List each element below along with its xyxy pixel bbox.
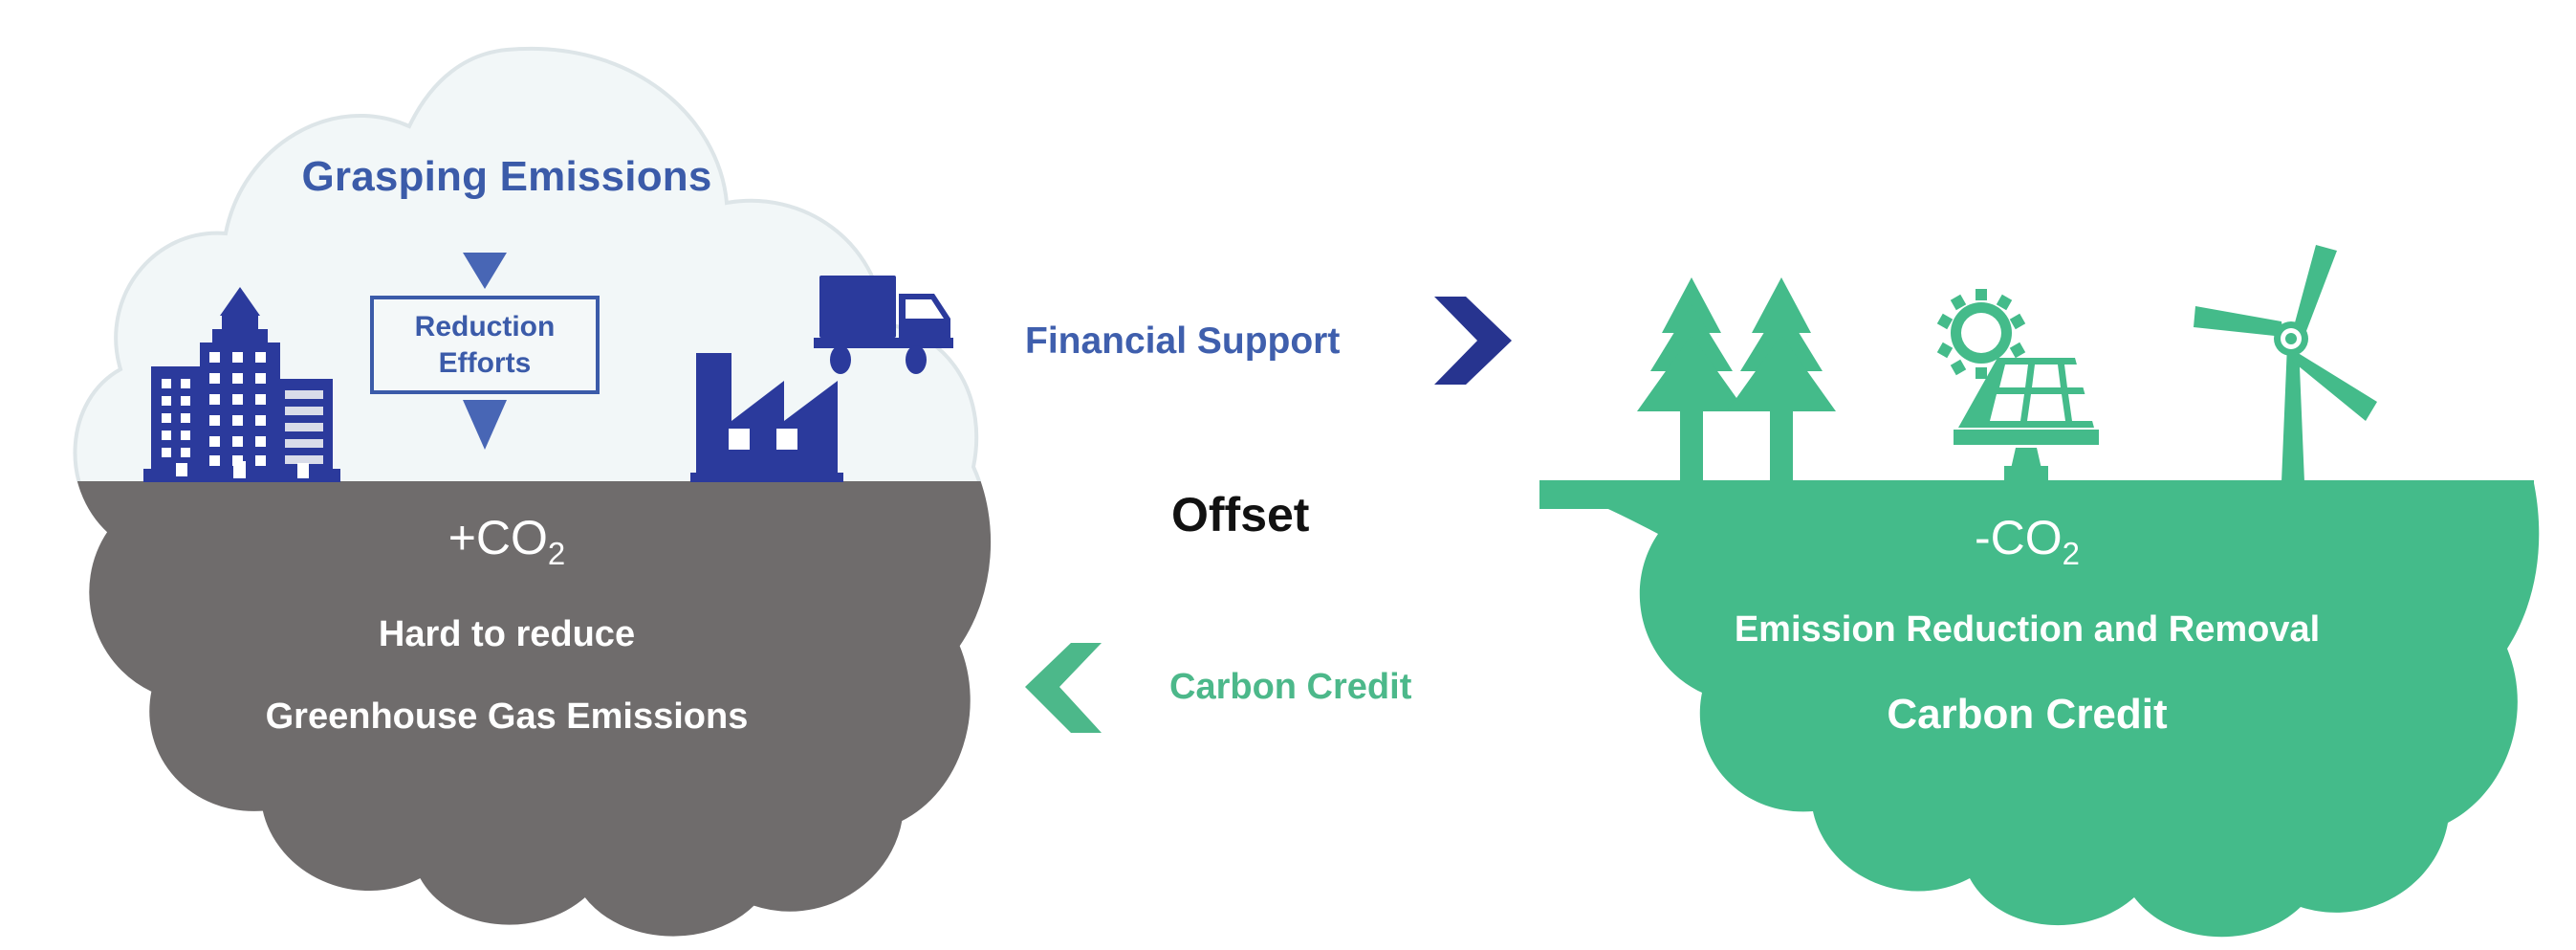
carbon-credit-arrow-label: Carbon Credit (1169, 669, 1411, 705)
diagram-canvas: Grasping Emissions Reduction Efforts +CO… (0, 0, 2576, 950)
offset-label: Offset (1171, 491, 1309, 539)
financial-support-label: Financial Support (1025, 322, 1340, 360)
solar-panel-icon (1937, 289, 2099, 480)
carbon-credit-cloud-label: Carbon Credit (1530, 694, 2524, 736)
reduction-efforts-line-2: Efforts (439, 345, 532, 382)
minus-co2-subscript: 2 (2063, 536, 2080, 571)
reduction-efforts-box: Reduction Efforts (370, 296, 600, 394)
greenhouse-gas-emissions-label: Greenhouse Gas Emissions (0, 698, 1014, 735)
chevron-left-icon (1025, 643, 1102, 733)
plus-co2-label: +CO2 (0, 514, 1014, 569)
emission-reduction-and-removal-label: Emission Reduction and Removal (1530, 611, 2524, 648)
plus-co2-subscript: 2 (548, 536, 565, 571)
left-cloud-graphic (0, 0, 2576, 950)
reduction-efforts-line-1: Reduction (415, 309, 556, 345)
minus-co2-label: -CO2 (1530, 514, 2524, 569)
left-cloud-title: Grasping Emissions (0, 156, 1014, 198)
trees-icon (1637, 277, 1836, 482)
minus-co2-main: -CO (1975, 511, 2063, 564)
chevron-right-icon (1434, 297, 1512, 385)
hard-to-reduce-label: Hard to reduce (0, 616, 1014, 652)
wind-turbine-icon (2194, 245, 2377, 482)
plus-co2-main: +CO (448, 511, 548, 564)
